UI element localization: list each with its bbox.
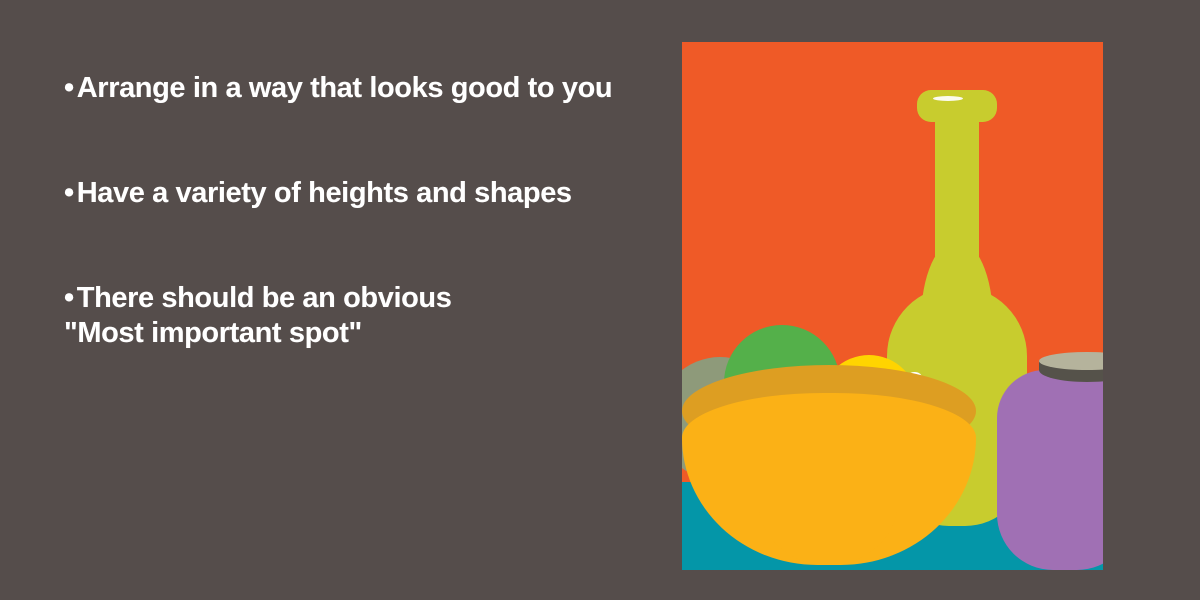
bullet-text: There should be an obvious: [77, 282, 452, 314]
list-item: •Arrange in a way that looks good to you: [64, 36, 664, 106]
bullet-marker-icon: •: [64, 176, 74, 211]
list-item: •Have a variety of heights and shapes: [64, 141, 664, 211]
purple-jar: [997, 352, 1103, 570]
list-item: •There should be an obvious "Most import…: [64, 246, 664, 386]
bullet-text: Arrange in a way that looks good to you: [77, 72, 612, 104]
bullet-marker-icon: •: [64, 281, 74, 316]
fruit-bowl: [682, 325, 982, 568]
jar-body: [997, 370, 1103, 570]
bottle-neck: [935, 110, 979, 310]
bottle-lip-highlight: [933, 96, 963, 101]
bullet-text-line-2: "Most important spot": [64, 316, 664, 351]
bullet-list: •Arrange in a way that looks good to you…: [64, 36, 664, 421]
bullet-text: Have a variety of heights and shapes: [77, 177, 572, 209]
bottle-lip: [917, 90, 997, 122]
bullet-marker-icon: •: [64, 71, 74, 106]
slide-canvas: •Arrange in a way that looks good to you…: [0, 0, 1200, 600]
still-life-illustration: [682, 42, 1103, 570]
